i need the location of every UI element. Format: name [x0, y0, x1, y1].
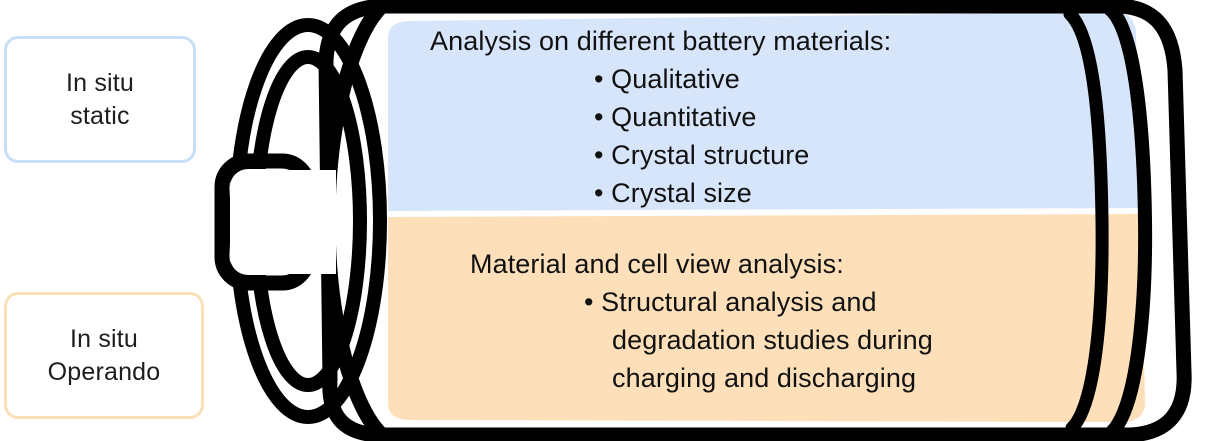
label-chip-in-situ-static[interactable]: In situstatic — [4, 36, 196, 163]
chip-operando-text: In situOperando — [42, 323, 167, 389]
label-chip-in-situ-operando[interactable]: In situOperando — [4, 292, 204, 419]
blue-section-bullet-list: • Qualitative • Quantitative • Crystal s… — [430, 60, 891, 212]
chip-static-text: In situstatic — [60, 67, 140, 133]
orange-bullet-line-charging: charging and discharging — [598, 359, 933, 397]
chip-static-line1: In situ — [66, 69, 134, 97]
orange-section-text: Material and cell view analysis: • Struc… — [470, 245, 933, 397]
terminal-nub-face — [230, 169, 300, 275]
battery-cap-highlights — [230, 169, 336, 275]
chip-operando-line2: Operando — [48, 358, 161, 386]
blue-bullet-qualitative: • Qualitative — [608, 60, 891, 98]
orange-bullet-structural-analysis: • Structural analysis and — [598, 283, 933, 321]
blue-bullet-quantitative: • Quantitative — [608, 98, 891, 136]
blue-bullet-crystal-size: • Crystal size — [608, 174, 891, 212]
blue-section-text: Analysis on different battery materials:… — [430, 22, 891, 212]
blue-bullet-crystal-structure: • Crystal structure — [608, 136, 891, 174]
orange-section-bullet-list: • Structural analysis and degradation st… — [470, 283, 933, 397]
diagram-canvas: In situstatic In situOperando — [0, 0, 1221, 441]
orange-section-heading: Material and cell view analysis: — [470, 245, 933, 283]
chip-operando-line1: In situ — [70, 325, 138, 353]
orange-bullet-line-degradation: degradation studies during — [598, 321, 933, 359]
chip-static-line2: static — [70, 102, 130, 130]
blue-section-heading: Analysis on different battery materials: — [430, 22, 891, 60]
